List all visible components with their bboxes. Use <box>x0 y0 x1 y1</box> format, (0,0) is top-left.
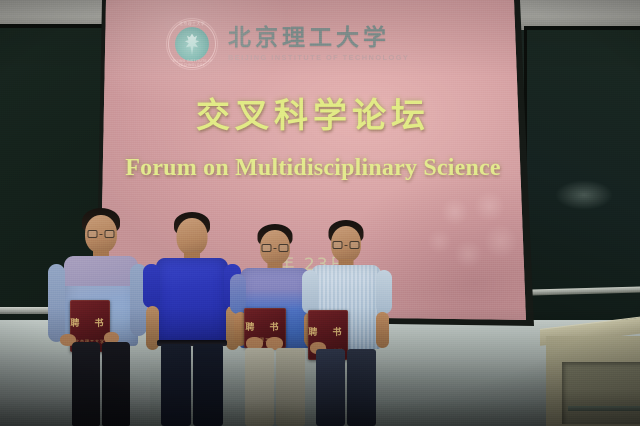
lectern-rail <box>568 406 640 411</box>
university-seal-icon: 北京理工大学 BEIJING INSTITUTE OF TECHNOLOGY <box>166 18 218 70</box>
person-2-shirt <box>156 258 228 344</box>
person-1-left-arm <box>48 264 65 342</box>
university-name-en: BEIJING INSTITUTE OF TECHNOLOGY <box>228 53 409 62</box>
person-3-leg-left <box>245 348 274 426</box>
glasses-left-lens <box>88 230 98 238</box>
person-4-right-forearm <box>376 312 389 348</box>
person-4-trousers <box>315 349 377 426</box>
chalk-tray-right <box>527 286 640 295</box>
glasses-left-lens <box>262 244 272 252</box>
person-2-left-arm <box>143 264 160 308</box>
lectern <box>540 322 640 426</box>
lectern-body <box>546 336 640 426</box>
slide-title-chinese: 交叉科学论坛 <box>100 88 526 137</box>
glasses-right-lens <box>279 244 289 252</box>
person-3-trousers <box>244 348 306 426</box>
glasses-bridge <box>274 248 277 249</box>
person-1-certificate-title: 聘 书 <box>70 316 110 329</box>
person-3-glasses-icon <box>262 244 289 252</box>
glasses-bridge <box>345 245 348 246</box>
person-1-glasses-icon <box>88 230 115 238</box>
person-2-head <box>177 218 208 255</box>
person-4-left-arm <box>302 270 318 314</box>
slide-header: 北京理工大学 BEIJING INSTITUTE OF TECHNOLOGY 北… <box>166 14 466 74</box>
university-name-cn: 北京理工大学 <box>228 26 409 51</box>
person-1-leg-right <box>102 342 130 426</box>
person-1-leg-left <box>72 342 100 426</box>
person-1-trousers <box>70 342 132 426</box>
seal-bottom-text: BEIJING INSTITUTE OF TECHNOLOGY <box>166 59 218 67</box>
glasses-bridge <box>100 234 103 235</box>
glasses-right-lens <box>105 230 115 238</box>
person-1-shirt-yoke <box>64 256 138 286</box>
glasses-left-lens <box>333 241 343 249</box>
blackboard-right <box>524 26 640 360</box>
lectern-cavity <box>562 362 640 424</box>
person-4-certificate-title: 聘 书 <box>308 325 348 338</box>
person-4-glasses-icon <box>333 241 360 249</box>
person-2 <box>142 212 242 426</box>
person-2-leg-left <box>161 344 191 426</box>
person-2-leg-right <box>193 344 223 426</box>
person-2-trousers <box>159 344 225 426</box>
person-3-certificate-title: 聘 书 <box>244 320 286 333</box>
photograph-scene: 北京理工大学 BEIJING INSTITUTE OF TECHNOLOGY 北… <box>0 0 640 426</box>
person-4-leg-right <box>347 349 376 426</box>
person-4: 聘 书 北京理工大学 <box>300 220 392 426</box>
blackboard-glare <box>555 180 613 210</box>
glasses-right-lens <box>350 241 360 249</box>
slide-title-english: Forum on Multidisciplinary Science <box>100 155 526 182</box>
person-4-right-arm <box>376 270 392 314</box>
person-4-leg-left <box>316 349 345 426</box>
university-name-block: 北京理工大学 BEIJING INSTITUTE OF TECHNOLOGY <box>228 26 409 63</box>
